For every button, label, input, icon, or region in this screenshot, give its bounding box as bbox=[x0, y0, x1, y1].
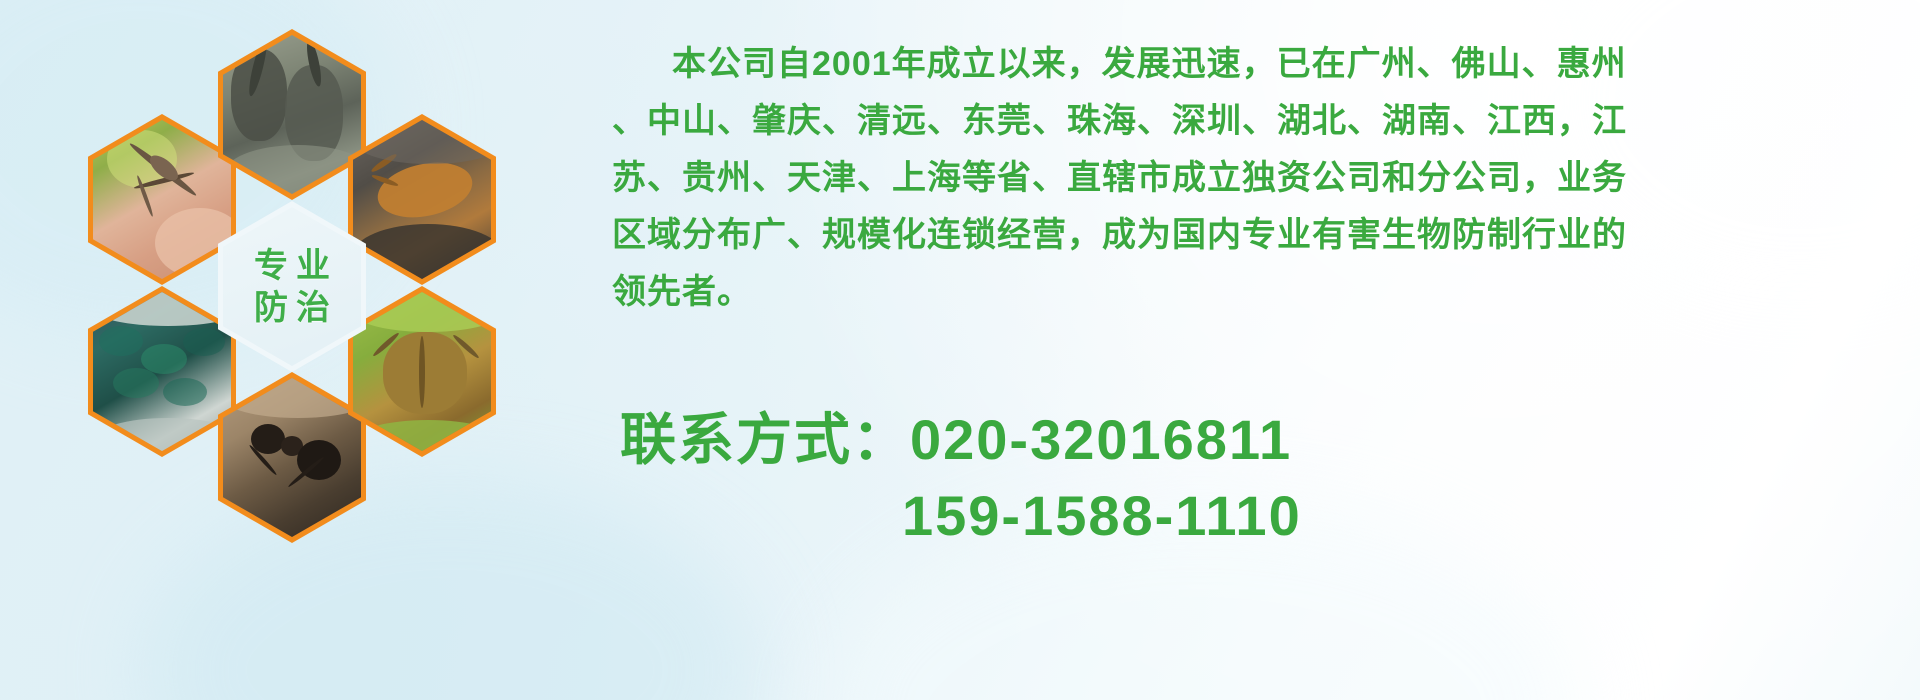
hex-photo-mosquito-inner bbox=[93, 120, 231, 279]
hex-badge-line-2: 防治 bbox=[246, 291, 338, 325]
description-line: 苏、贵州、天津、上海等省、直辖市成立独资公司和分公司，业务 bbox=[612, 150, 1908, 207]
hex-photo-bug-inner bbox=[353, 292, 491, 451]
hex-badge-inner: 专业 防治 bbox=[223, 207, 361, 366]
hex-badge-professional-control: 专业 防治 bbox=[218, 201, 366, 372]
hex-photo-mosquito bbox=[88, 114, 236, 285]
stink-bug-image bbox=[353, 292, 491, 451]
hex-photo-cockroach bbox=[348, 114, 496, 285]
description-line: 本公司自2001年成立以来，发展迅速，已在广州、佛山、惠州 bbox=[612, 36, 1908, 93]
description-line: 区域分布广、规模化连锁经营，成为国内专业有害生物防制行业的 bbox=[612, 207, 1908, 264]
hex-photo-ant-inner bbox=[223, 378, 361, 537]
hex-photo-rats bbox=[218, 29, 366, 200]
hex-photo-rats-inner bbox=[223, 35, 361, 194]
description-line: 领先者。 bbox=[612, 264, 1908, 321]
hex-photo-ant bbox=[218, 372, 366, 543]
promo-banner: 专业 防治 本公司自2001年成立以来，发展迅速，已在广州、佛山、惠州 、中山、… bbox=[0, 0, 1920, 700]
hexagon-photo-cluster: 专业 防治 bbox=[88, 14, 588, 574]
contact-phone-primary[interactable]: 联系方式：020-32016811 bbox=[620, 402, 1920, 478]
hex-photo-cockroach-inner bbox=[353, 120, 491, 279]
cockroach-image bbox=[353, 120, 491, 279]
hex-badge-line-1: 专业 bbox=[246, 249, 338, 283]
hex-photo-bug bbox=[348, 286, 496, 457]
contact-info: 联系方式：020-32016811 159-1588-1110 bbox=[620, 402, 1920, 554]
contact-phone-secondary[interactable]: 159-1588-1110 bbox=[620, 478, 1920, 554]
description-line: 、中山、肇庆、清远、东莞、珠海、深圳、湖北、湖南、江西，江 bbox=[612, 93, 1908, 150]
hex-photo-flies bbox=[88, 286, 236, 457]
rats-image bbox=[223, 35, 361, 194]
hex-badge-text: 专业 防治 bbox=[223, 207, 361, 366]
ant-image bbox=[223, 378, 361, 537]
hex-photo-flies-inner bbox=[93, 292, 231, 451]
flies-image bbox=[93, 292, 231, 451]
company-description: 本公司自2001年成立以来，发展迅速，已在广州、佛山、惠州 、中山、肇庆、清远、… bbox=[612, 36, 1908, 321]
mosquito-image bbox=[93, 120, 231, 279]
